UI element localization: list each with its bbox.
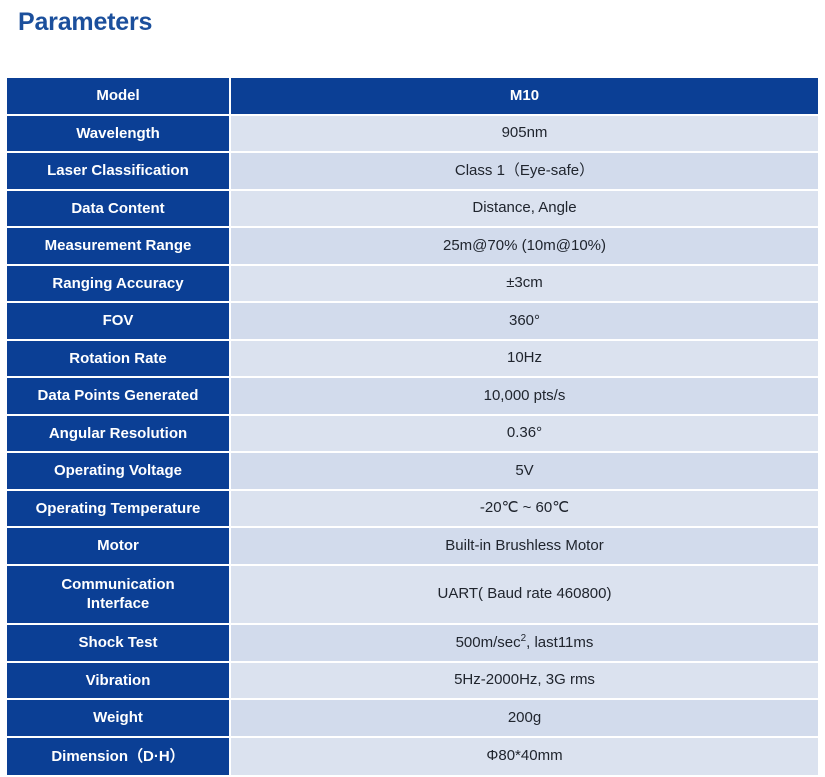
table-row-label-cell: Operating Voltage: [7, 453, 231, 491]
table-row-value-cell: 5V: [231, 453, 818, 491]
table-row: Dimension（D·H）Φ80*40mm: [7, 738, 818, 776]
table-row-value-cell: 5Hz-2000Hz, 3G rms: [231, 663, 818, 701]
table-row-value-cell: UART( Baud rate 460800): [231, 566, 818, 626]
table-row: Laser ClassificationClass 1（Eye-safe）: [7, 153, 818, 191]
table-row: Shock Test500m/sec2, last11ms: [7, 625, 818, 663]
table-row-label-cell: Motor: [7, 528, 231, 566]
table-row: Ranging Accuracy±3cm: [7, 266, 818, 304]
table-row: Angular Resolution0.36°: [7, 416, 818, 454]
table-row-label-cell: Measurement Range: [7, 228, 231, 266]
table-row: FOV360°: [7, 303, 818, 341]
table-row-label-cell: FOV: [7, 303, 231, 341]
table-row-label-cell: Laser Classification: [7, 153, 231, 191]
table-row-label-cell: Communication Interface: [7, 566, 231, 626]
table-row-label-cell: Rotation Rate: [7, 341, 231, 379]
table-row-value-cell: 200g: [231, 700, 818, 738]
table-row-value-cell: -20℃ ~ 60℃: [231, 491, 818, 529]
table-row-value-cell: 0.36°: [231, 416, 818, 454]
table-row-label-cell: Ranging Accuracy: [7, 266, 231, 304]
table-row: Operating Temperature-20℃ ~ 60℃: [7, 491, 818, 529]
table-row-value-cell: 10,000 pts/s: [231, 378, 818, 416]
table-row-value-cell: 25m@70% (10m@10%): [231, 228, 818, 266]
table-row-label-cell: Data Content: [7, 191, 231, 229]
table-header-row: ModelM10: [7, 78, 818, 116]
table-row-value-cell: Φ80*40mm: [231, 738, 818, 776]
table-header-label-cell: Model: [7, 78, 231, 116]
table-row-label-cell: Data Points Generated: [7, 378, 231, 416]
table-row-value-cell: Distance, Angle: [231, 191, 818, 229]
table-row-label-cell: Wavelength: [7, 116, 231, 154]
table-row-label-cell: Shock Test: [7, 625, 231, 663]
table-row-value-cell: Built-in Brushless Motor: [231, 528, 818, 566]
table-row-label-cell: Operating Temperature: [7, 491, 231, 529]
table-row-value-cell: 10Hz: [231, 341, 818, 379]
table-row-label-cell: Dimension（D·H）: [7, 738, 231, 776]
table-header-value-cell: M10: [231, 78, 818, 116]
page-title: Parameters: [18, 5, 152, 39]
table-row: Data ContentDistance, Angle: [7, 191, 818, 229]
table-row-label-cell: Weight: [7, 700, 231, 738]
table-row: Weight200g: [7, 700, 818, 738]
table-row: Measurement Range25m@70% (10m@10%): [7, 228, 818, 266]
table-row: Wavelength905nm: [7, 116, 818, 154]
table-body: ModelM10Wavelength905nmLaser Classificat…: [7, 78, 818, 775]
table-row-value-cell: 360°: [231, 303, 818, 341]
table-row-label-cell: Angular Resolution: [7, 416, 231, 454]
table-row: Rotation Rate10Hz: [7, 341, 818, 379]
table-row-value-cell: ±3cm: [231, 266, 818, 304]
table-row-label-cell: Vibration: [7, 663, 231, 701]
lidar-parameters-table: ModelM10Wavelength905nmLaser Classificat…: [7, 78, 818, 775]
table-row: Data Points Generated10,000 pts/s: [7, 378, 818, 416]
table-row-value-cell: 500m/sec2, last11ms: [231, 625, 818, 663]
table-row: Vibration5Hz-2000Hz, 3G rms: [7, 663, 818, 701]
table-row: Communication InterfaceUART( Baud rate 4…: [7, 566, 818, 626]
table-row-value-cell: Class 1（Eye-safe）: [231, 153, 818, 191]
table-row: MotorBuilt-in Brushless Motor: [7, 528, 818, 566]
table-row: Operating Voltage5V: [7, 453, 818, 491]
table-row-value-cell: 905nm: [231, 116, 818, 154]
parameters-page: Parameters ModelM10Wavelength905nmLaser …: [0, 0, 825, 777]
